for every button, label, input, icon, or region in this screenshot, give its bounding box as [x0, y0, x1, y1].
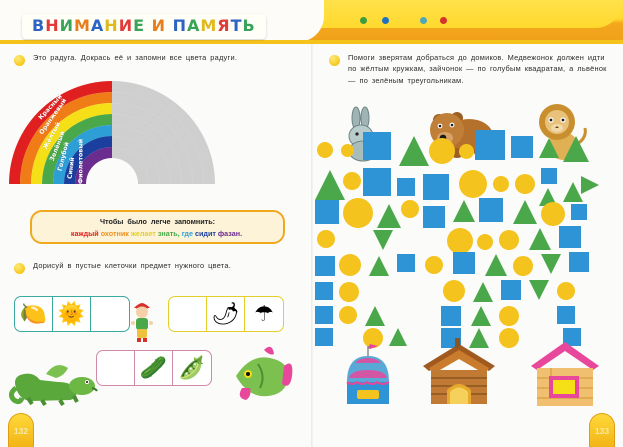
maze-triangle-down[interactable] — [373, 230, 393, 250]
maze-triangle[interactable] — [563, 182, 583, 202]
maze-circle[interactable] — [477, 234, 493, 250]
dragon-figure — [8, 348, 100, 406]
maze-circle[interactable] — [317, 142, 333, 158]
cell-empty[interactable] — [91, 297, 129, 331]
maze-circle[interactable] — [499, 328, 519, 348]
bullet-icon — [14, 55, 25, 66]
maze-square[interactable] — [511, 136, 533, 158]
maze-circle[interactable] — [557, 282, 575, 300]
maze-circle[interactable] — [459, 170, 487, 198]
fish-figure — [228, 344, 294, 406]
maze-triangle[interactable] — [453, 200, 475, 222]
dot-green — [360, 17, 367, 24]
house-stone — [527, 340, 603, 408]
house-log — [417, 338, 501, 408]
maze-triangle[interactable] — [539, 138, 559, 158]
task-3-instruction: Помоги зверятам добраться до домиков. Ме… — [348, 52, 615, 86]
row-yellow: 🍋🌞 — [14, 296, 130, 332]
maze-circle[interactable] — [499, 230, 519, 250]
sun-icon: 🌞 — [58, 303, 85, 325]
title-letter: И — [119, 16, 133, 35]
rainbow-diagram[interactable]: КрасныйОранжевыйЖёлтыйЗелёныйГолубойСини… — [22, 84, 202, 184]
maze-circle[interactable] — [317, 230, 335, 248]
lemon-icon: 🍋 — [20, 303, 47, 325]
mnemonic-phrase: каждыйохотникжелаетзнать,гдесидитфазан. — [71, 229, 244, 238]
maze-triangle[interactable] — [471, 306, 491, 326]
maze-triangle[interactable] — [365, 306, 385, 326]
maze-square[interactable] — [475, 130, 505, 160]
maze-circle[interactable] — [425, 256, 443, 274]
maze-triangle-down[interactable] — [529, 280, 549, 300]
pepper-icon: 🌶 — [212, 303, 240, 325]
maze-circle[interactable] — [541, 202, 565, 226]
cucumber-icon: 🥒 — [140, 357, 167, 379]
mnemonic-word: знать, — [158, 229, 180, 238]
maze-square[interactable] — [423, 174, 449, 200]
maze-square[interactable] — [363, 168, 391, 196]
peas-icon: 🫛 — [178, 357, 205, 379]
left-page: Это радуга. Докрась её и запомни все цве… — [0, 44, 311, 447]
cell-cucumber: 🥒 — [135, 351, 173, 385]
title-letter: М — [74, 16, 91, 35]
maze-square[interactable] — [315, 282, 333, 300]
maze-square[interactable] — [571, 204, 587, 220]
maze-triangle[interactable] — [369, 256, 389, 276]
maze-circle[interactable] — [339, 254, 361, 276]
mnemonic-word: где — [182, 229, 193, 238]
cell-empty[interactable] — [97, 351, 135, 385]
maze-circle[interactable] — [443, 280, 465, 302]
mnemonic-word: фазан. — [218, 229, 242, 238]
task-2-instruction: Дорисуй в пустые клеточки предмет нужног… — [33, 260, 304, 271]
maze-square[interactable] — [363, 132, 391, 160]
title-letter: Н — [104, 16, 118, 35]
title-letter: М — [200, 16, 217, 35]
maze-circle[interactable] — [429, 138, 455, 164]
maze-circle[interactable] — [343, 198, 373, 228]
page-title-text: ВНИМАНИЕ И ПАМЯТЬ — [32, 16, 256, 35]
maze-circle[interactable] — [459, 144, 474, 159]
maze-circle[interactable] — [513, 256, 533, 276]
title-letter: А — [187, 16, 200, 35]
maze-square[interactable] — [479, 198, 503, 222]
maze-triangle-down[interactable] — [541, 254, 561, 274]
maze-circle[interactable] — [515, 174, 535, 194]
title-letter: Е — [133, 16, 145, 35]
maze-square[interactable] — [315, 306, 333, 324]
title-letter — [145, 16, 152, 35]
bullet-icon — [329, 55, 340, 66]
cell-pepper: 🌶 — [207, 297, 245, 331]
title-letter: И — [152, 16, 166, 35]
row-red: 🌶☂ — [168, 296, 284, 332]
maze-circle[interactable] — [339, 282, 359, 302]
mnemonic-word: каждый — [71, 229, 99, 238]
shape-maze-field[interactable] — [313, 130, 623, 345]
maze-triangle[interactable] — [399, 136, 429, 166]
maze-circle[interactable] — [493, 176, 509, 192]
task-1: Это радуга. Докрась её и запомни все цве… — [14, 52, 304, 63]
title-letter: Ь — [243, 16, 256, 35]
title-letter: Я — [217, 16, 230, 35]
workbook-page-spread: ВНИМАНИЕ И ПАМЯТЬ Это радуга. Докрась её… — [0, 0, 623, 447]
mnemonic-note: Чтобы было легче запомнить: каждыйохотни… — [30, 210, 285, 244]
mnemonic-word: сидит — [195, 229, 216, 238]
title-letter: В — [32, 16, 45, 35]
maze-triangle[interactable] — [377, 204, 401, 228]
page-spread: Это радуга. Докрась её и запомни все цве… — [0, 44, 623, 447]
maze-square[interactable] — [397, 178, 415, 196]
maze-triangle[interactable] — [485, 254, 507, 276]
dot-teal — [420, 17, 427, 24]
maze-square[interactable] — [559, 226, 581, 248]
dot-blue — [382, 17, 389, 24]
maze-square[interactable] — [453, 252, 475, 274]
maze-triangle[interactable] — [513, 200, 537, 224]
maze-square[interactable] — [315, 256, 335, 276]
maze-square[interactable] — [557, 306, 575, 324]
maze-square[interactable] — [569, 252, 589, 272]
dot-red — [440, 17, 447, 24]
maze-circle[interactable] — [447, 228, 473, 254]
mnemonic-word: охотник — [101, 229, 129, 238]
girl-figure — [127, 299, 157, 343]
maze-circle[interactable] — [343, 172, 361, 190]
maze-circle[interactable] — [401, 200, 419, 218]
task-2: Дорисуй в пустые клеточки предмет нужног… — [14, 260, 304, 271]
title-letter: Н — [45, 16, 59, 35]
maze-square[interactable] — [315, 200, 339, 224]
maze-square[interactable] — [541, 168, 557, 184]
page-title: ВНИМАНИЕ И ПАМЯТЬ — [22, 14, 266, 39]
maze-square[interactable] — [315, 328, 333, 346]
page-number-left: 132 — [8, 413, 34, 447]
task-3: Помоги зверятам добраться до домиков. Ме… — [329, 52, 615, 86]
title-letter: Т — [231, 16, 243, 35]
umbrella-icon: ☂ — [254, 303, 274, 325]
maze-square[interactable] — [397, 254, 415, 272]
maze-circle[interactable] — [499, 306, 519, 326]
cell-umbrella: ☂ — [245, 297, 283, 331]
rainbow-band-label: Фиолетовый — [77, 139, 84, 184]
cell-lemon: 🍋 — [15, 297, 53, 331]
title-letter — [166, 16, 173, 35]
house-tower — [337, 344, 399, 408]
maze-triangle[interactable] — [563, 136, 589, 162]
maze-circle[interactable] — [339, 306, 357, 324]
page-number-right: 133 — [589, 413, 615, 447]
row-green: 🥒🫛 — [96, 350, 212, 386]
maze-square[interactable] — [423, 206, 445, 228]
task-1-instruction: Это радуга. Докрась её и запомни все цве… — [33, 52, 304, 63]
maze-triangle[interactable] — [315, 170, 345, 200]
top-banner: ВНИМАНИЕ И ПАМЯТЬ — [0, 0, 623, 42]
title-letter: И — [60, 16, 74, 35]
maze-circle[interactable] — [341, 144, 354, 157]
maze-triangle-right[interactable] — [581, 176, 599, 194]
cell-empty[interactable] — [169, 297, 207, 331]
mnemonic-title: Чтобы было легче запомнить: — [100, 217, 215, 226]
right-page: Помоги зверятам добраться до домиков. Ме… — [313, 44, 623, 447]
maze-square[interactable] — [441, 306, 461, 326]
cell-sun: 🌞 — [53, 297, 91, 331]
bullet-icon — [14, 263, 25, 274]
title-letter: П — [173, 16, 187, 35]
title-letter: А — [91, 16, 104, 35]
maze-triangle[interactable] — [473, 282, 493, 302]
maze-square[interactable] — [501, 280, 521, 300]
cell-peas: 🫛 — [173, 351, 211, 385]
mnemonic-word: желает — [131, 229, 156, 238]
maze-triangle[interactable] — [529, 228, 551, 250]
